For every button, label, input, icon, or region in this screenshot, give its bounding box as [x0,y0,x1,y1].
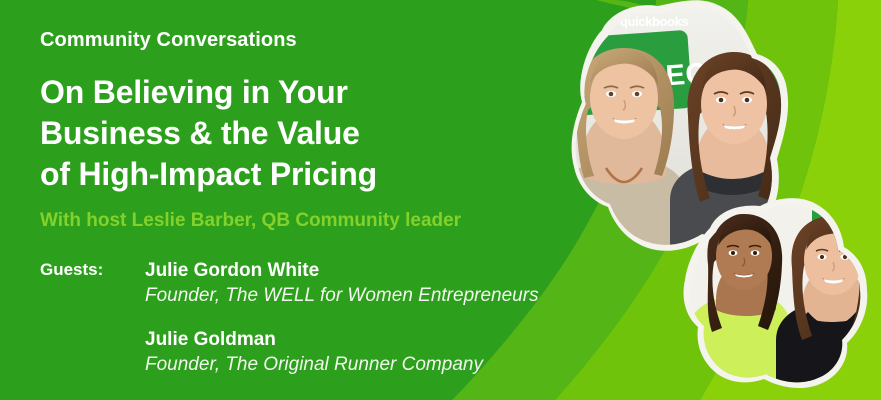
list-item: Julie Gordon White Founder, The WELL for… [145,258,585,309]
guest-role: Founder, The WELL for Women Entrepreneur… [145,283,585,309]
list-item: Julie Goldman Founder, The Original Runn… [145,327,585,378]
guest-list: Julie Gordon White Founder, The WELL for… [145,258,585,396]
headline-line-1: On Believing in Your [40,72,510,113]
community-conversations-banner: Community Conversations On Believing in … [0,0,881,400]
headline-line-3: of High-Impact Pricing [40,154,510,195]
headline-line-2: Business & the Value [40,113,510,154]
series-eyebrow: Community Conversations [40,29,297,52]
guest-role: Founder, The Original Runner Company [145,352,585,378]
guests-label: Guests: [40,260,103,280]
guest-name: Julie Gordon White [145,258,585,283]
banner-text-column: Community Conversations On Believing in … [40,0,580,400]
page-title: On Believing in Your Business & the Valu… [40,72,510,195]
host-line: With host Leslie Barber, QB Community le… [40,210,461,232]
guest-name: Julie Goldman [145,327,585,352]
